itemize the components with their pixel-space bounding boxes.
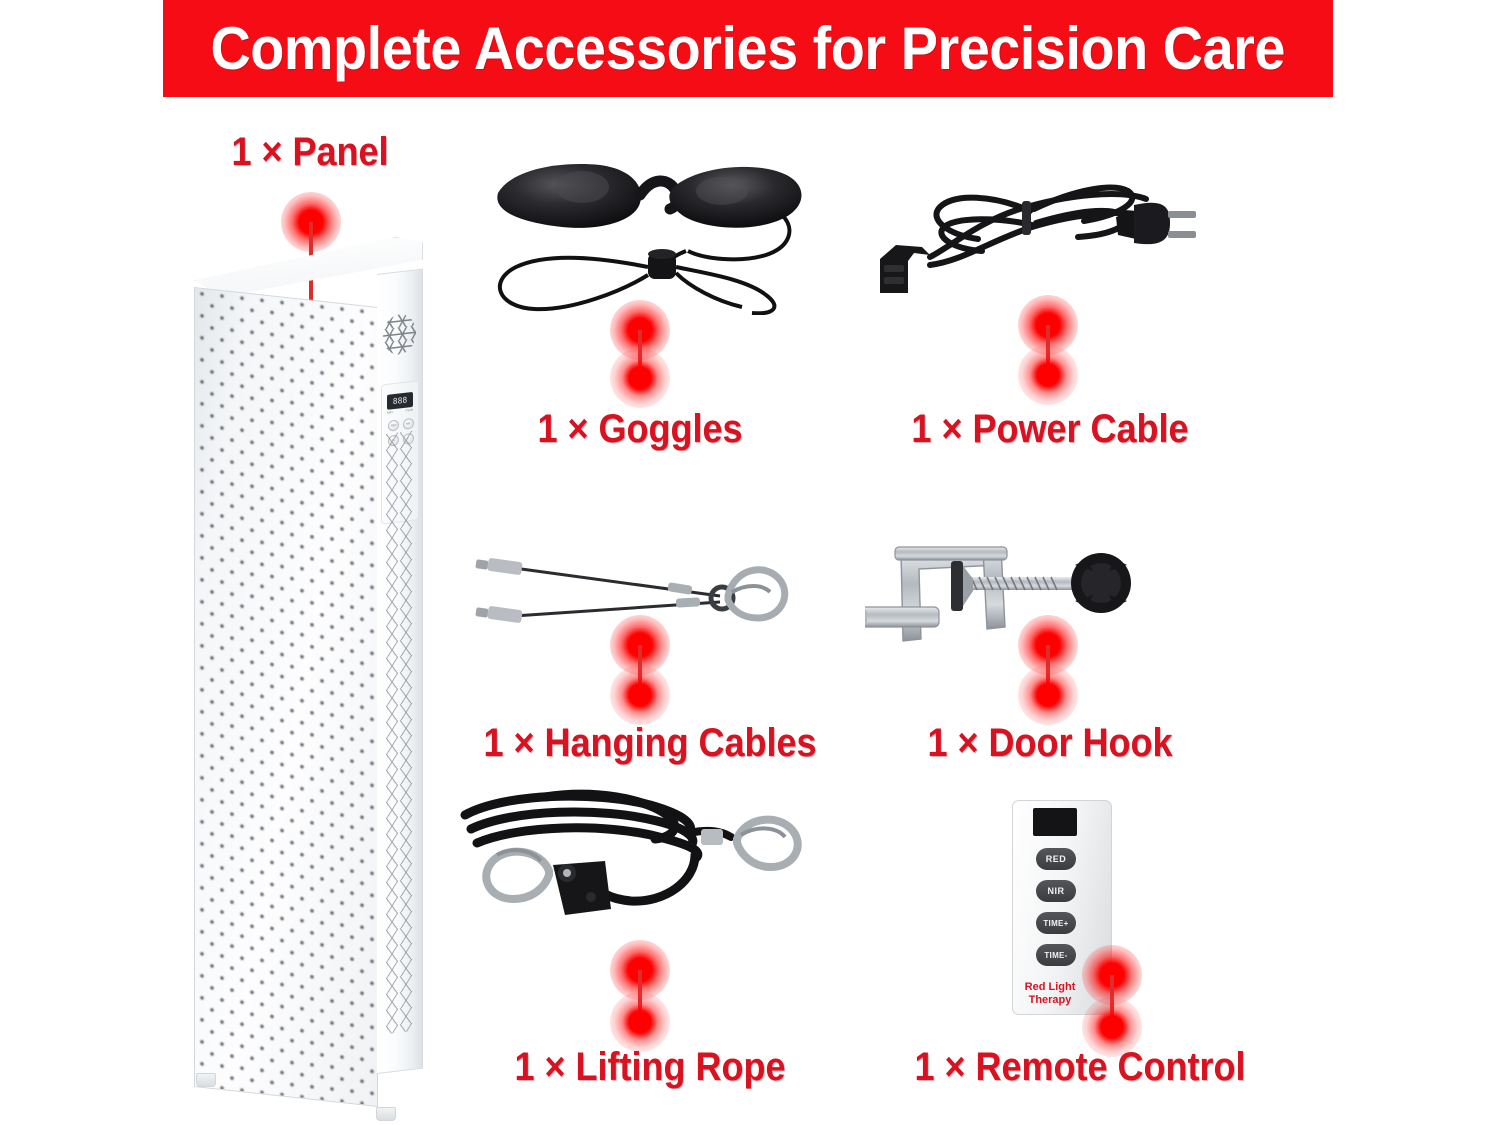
callout-dot-power-end [1018,345,1078,405]
panel-lcd-sub-left: MIN [387,410,393,415]
plug-prong-2 [1168,231,1196,238]
panel-side-column: 888 MIN PWR RED NIR T+ T- [377,269,423,1074]
panel-button-nir[interactable]: NIR [403,418,414,430]
panel-led-grid [195,288,377,1106]
panel-button-red[interactable]: RED [388,419,399,431]
callout-goggles [610,300,670,410]
caption-power-cable: 1 × Power Cable [897,407,1203,452]
carabiner-hook-icon [728,570,785,618]
panel-foot-left [196,1073,216,1087]
panel-side-vent-pattern [385,431,414,1034]
safety-goggles-icon [490,155,820,315]
hanging-cable-crimp-lower [676,597,700,607]
callout-stem-power [1046,325,1050,375]
infographic-canvas: Complete Accessories for Precision Care … [0,0,1500,1125]
hanging-cable-bolt-upper [475,558,522,576]
callout-dot-goggles-end [610,348,670,408]
door-clamp-hook-icon [865,535,1175,655]
us-plug-body [1134,203,1170,244]
led-panel-icon: 888 MIN PWR RED NIR T+ T- [180,237,440,1117]
callout-stem-goggles [638,330,642,378]
callout-dot-power-top [1018,295,1078,355]
remote-brand-line1: Red Light [1013,981,1087,994]
rope-lower-run [595,855,695,901]
power-cable-tie [1022,201,1031,235]
remote-button-nir[interactable]: NIR [1036,880,1076,902]
remote-button-time-plus[interactable]: TIME+ [1036,912,1076,934]
caption-remote-control: 1 × Remote Control [900,1045,1260,1090]
remote-control-icon: RED NIR TIME+ TIME- Red Light Therapy [1012,800,1112,1015]
hanging-cable-crimp-upper [667,582,692,595]
callout-dot-rope-top [610,940,670,1000]
caption-lifting-rope: 1 × Lifting Rope [497,1045,803,1090]
callout-stem-hanging [638,645,642,695]
goggle-strap-loop-right [676,267,774,313]
clamp-lower-shaft [865,607,939,627]
rope-metal-sleeve [701,829,723,845]
title-banner: Complete Accessories for Precision Care [163,0,1333,97]
callout-power-cable [1018,295,1078,405]
caption-goggles: 1 × Goggles [505,407,775,452]
callout-dot-doorhook-end [1018,665,1078,725]
remote-button-red[interactable]: RED [1036,848,1076,870]
power-cable-icon [870,165,1200,295]
panel-led-face [194,287,378,1107]
caption-hanging-cables: 1 × Hanging Cables [470,721,830,766]
remote-button-time-minus[interactable]: TIME- [1036,944,1076,966]
fan-vent-icon [383,312,416,356]
caption-panel: 1 × Panel [166,130,454,175]
hanging-cable-bolt-lower [475,606,522,624]
banner-title: Complete Accessories for Precision Care [211,14,1286,83]
remote-body: RED NIR TIME+ TIME- Red Light Therapy [1012,800,1112,1015]
caption-door-hook: 1 × Door Hook [906,721,1194,766]
lifting-rope-icon [445,785,825,935]
hanging-cable-icon [470,540,790,650]
remote-brand-label: Red Light Therapy [1013,981,1087,1006]
remote-brand-line2: Therapy [1013,994,1087,1007]
panel-lcd-value: 888 [393,396,407,406]
goggle-strap-loop-left [500,258,648,309]
clamp-knob [1071,553,1131,613]
panel-lcd-sub-right: PWR [406,408,413,413]
panel-lcd-display: 888 [387,392,413,410]
callout-lifting-rope [610,940,670,1055]
callout-dot-hanging-end [610,665,670,725]
plug-prong-1 [1168,211,1196,218]
remote-ir-window [1033,808,1077,836]
callout-dot-rope-end [610,992,670,1052]
panel-foot-right [376,1107,396,1121]
clamp-top-bar [895,547,1007,560]
callout-stem-rope [638,970,642,1022]
